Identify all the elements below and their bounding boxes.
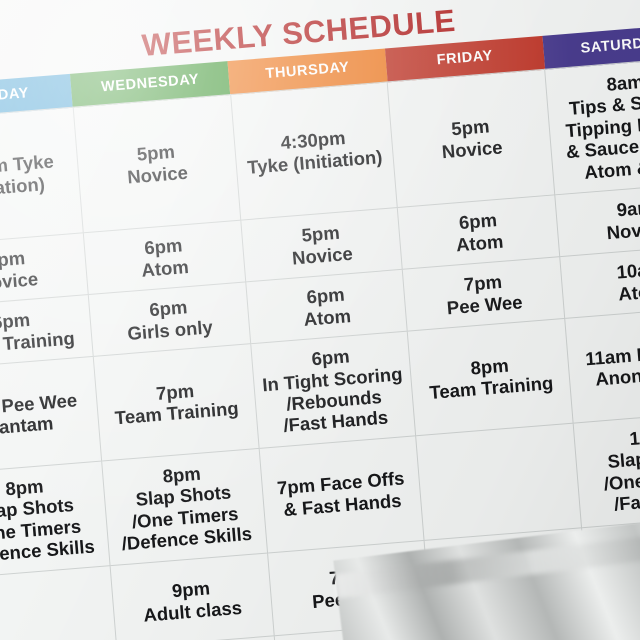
schedule-cell-tuesday-0: 4:30pm Tyke(Initiation) [0, 107, 83, 246]
schedule-cell-tuesday-3: 7pm Pee WeeBantam [0, 356, 101, 473]
schedule-cell-wednesday-4: 8pmSlap Shots/One Timers/Defence Skills [101, 448, 267, 565]
schedule-cell-tuesday-5 [0, 565, 117, 640]
schedule-cell-friday-3: 8pmTeam Training [408, 319, 574, 436]
schedule-entry-line: (Initiation) [0, 170, 75, 203]
schedule-cell-saturday-1: 9amNovice [555, 182, 640, 256]
schedule-cell-wednesday-0: 5pmNovice [73, 95, 240, 234]
schedule-cell-saturday-3: 11am DefenceAnonymous [565, 306, 640, 423]
schedule-cell-saturday-0: 8amTips & SauceTipping Pucks& Saucer Pas… [545, 57, 640, 196]
schedule-cell-wednesday-5: 9pmAdult class [110, 553, 274, 640]
schedule-cell-saturday-2: 10amAtom [560, 244, 640, 318]
schedule-cell-thursday-0: 4:30pmTyke (Initiation) [230, 82, 397, 221]
schedule-cell-thursday-3: 6pmIn Tight Scoring/Rebounds/Fast Hands [250, 331, 416, 448]
schedule-cell-saturday-4: 12pmSlap Shots/One Timers/Face Offs [573, 410, 640, 527]
schedule-cell-friday-0: 5pmNovice [388, 69, 555, 208]
schedule-cell-wednesday-3: 7pmTeam Training [93, 344, 259, 461]
schedule-cell-thursday-4: 7pm Face Offs& Fast Hands [259, 436, 425, 553]
photo-scene: WEEKLY SCHEDULE TUESDAYWEDNESDAYTHURSDAY… [0, 0, 640, 640]
schedule-entry-line: Novice [0, 264, 83, 297]
schedule-cell-friday-4 [416, 423, 582, 540]
schedule-cell-tuesday-4: 8pmSlap Shots/One Timers/Defence Skills [0, 461, 110, 578]
